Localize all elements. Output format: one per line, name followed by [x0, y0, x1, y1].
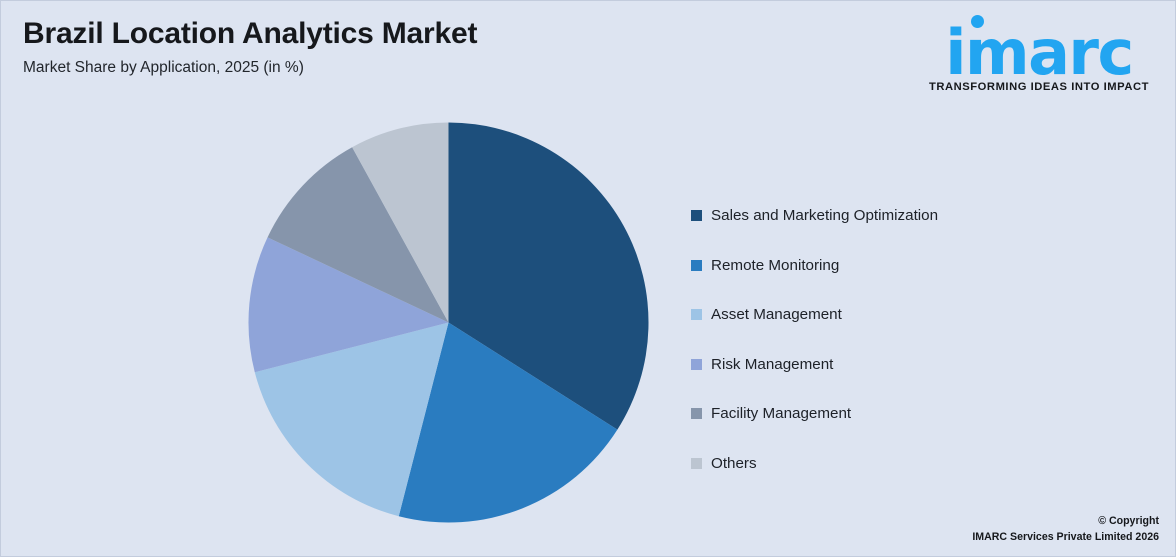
legend-swatch-icon [691, 458, 702, 469]
pie-chart [248, 122, 649, 523]
legend-item[interactable]: Remote Monitoring [691, 241, 1111, 291]
legend-item-label: Asset Management [711, 306, 842, 323]
legend-item[interactable]: Asset Management [691, 290, 1111, 340]
chart-subtitle: Market Share by Application, 2025 (in %) [23, 59, 723, 78]
copyright-line-1: © Copyright [972, 514, 1159, 530]
copyright-footer: © Copyright IMARC Services Private Limit… [972, 514, 1159, 546]
logo-wordmark: imarc [915, 11, 1163, 79]
imarc-logo: imarc TRANSFORMING IDEAS INTO IMPACT [915, 11, 1163, 93]
legend-swatch-icon [691, 260, 702, 271]
legend-item-label: Facility Management [711, 405, 851, 422]
legend-item[interactable]: Others [691, 439, 1111, 489]
pie-chart-svg [248, 122, 649, 523]
copyright-line-2: IMARC Services Private Limited 2026 [972, 530, 1159, 546]
legend-item-label: Risk Management [711, 356, 833, 373]
page-title: Brazil Location Analytics Market [23, 17, 723, 52]
legend-swatch-icon [691, 210, 702, 221]
legend-swatch-icon [691, 309, 702, 320]
chart-header: Brazil Location Analytics Market Market … [23, 17, 723, 77]
logo-text: imarc [945, 26, 1133, 79]
legend-item[interactable]: Sales and Marketing Optimization [691, 191, 1111, 241]
legend-item-label: Others [711, 455, 757, 472]
legend-item-label: Remote Monitoring [711, 257, 839, 274]
legend-swatch-icon [691, 408, 702, 419]
legend-item[interactable]: Risk Management [691, 340, 1111, 390]
chart-legend: Sales and Marketing OptimizationRemote M… [691, 191, 1111, 488]
legend-swatch-icon [691, 359, 702, 370]
legend-item[interactable]: Facility Management [691, 389, 1111, 439]
legend-item-label: Sales and Marketing Optimization [711, 207, 938, 224]
chart-canvas: Brazil Location Analytics Market Market … [0, 0, 1176, 557]
logo-dot-icon [971, 15, 984, 28]
